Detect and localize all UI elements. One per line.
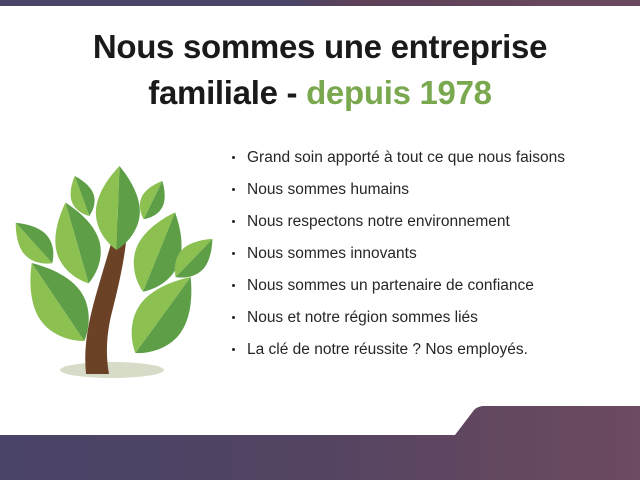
list-item-label: La clé de notre réussite ? Nos employés.	[247, 341, 528, 358]
slide: Nous sommes une entreprise familiale - d…	[0, 0, 640, 480]
bullet-dot-icon	[232, 220, 235, 223]
bullet-dot-icon	[232, 252, 235, 255]
bullet-dot-icon	[232, 188, 235, 191]
list-item-label: Nous sommes humains	[247, 181, 409, 198]
page-title: Nous sommes une entreprise familiale - d…	[0, 24, 640, 115]
top-accent-bar	[0, 0, 640, 6]
value-bullet-list: Grand soin apporté à tout ce que nous fa…	[230, 148, 630, 372]
bullet-dot-icon	[232, 284, 235, 287]
footer-bar: tabor-automobiles.fr	[0, 400, 640, 480]
bullet-dot-icon	[232, 316, 235, 319]
list-item-label: Nous sommes innovants	[247, 245, 417, 262]
page-title-line-1: Nous sommes une entreprise	[0, 24, 640, 70]
list-item-label: Nous respectons notre environnement	[247, 213, 510, 230]
footer-shape	[0, 406, 640, 480]
list-item-label: Nous et notre région sommes liés	[247, 309, 478, 326]
bullet-dot-icon	[232, 348, 235, 351]
bullet-dot-icon	[232, 156, 235, 159]
page-title-since-year: depuis 1978	[306, 74, 492, 111]
page-title-line-2-black: familiale -	[148, 74, 306, 111]
tree-leaf-top-center	[95, 165, 142, 250]
tree-shadow	[60, 362, 164, 378]
list-item: Grand soin apporté à tout ce que nous fa…	[230, 148, 630, 167]
list-item: Nous respectons notre environnement	[230, 212, 630, 231]
page-title-line-2: familiale - depuis 1978	[0, 70, 640, 116]
list-item: Nous sommes innovants	[230, 244, 630, 263]
list-item: Nous sommes humains	[230, 180, 630, 199]
list-item: Nous et notre région sommes liés	[230, 308, 630, 327]
list-item-label: Nous sommes un partenaire de confiance	[247, 277, 534, 294]
list-item: La clé de notre réussite ? Nos employés.	[230, 340, 630, 359]
tree-illustration	[8, 148, 223, 388]
list-item: Nous sommes un partenaire de confiance	[230, 276, 630, 295]
list-item-label: Grand soin apporté à tout ce que nous fa…	[247, 149, 565, 166]
